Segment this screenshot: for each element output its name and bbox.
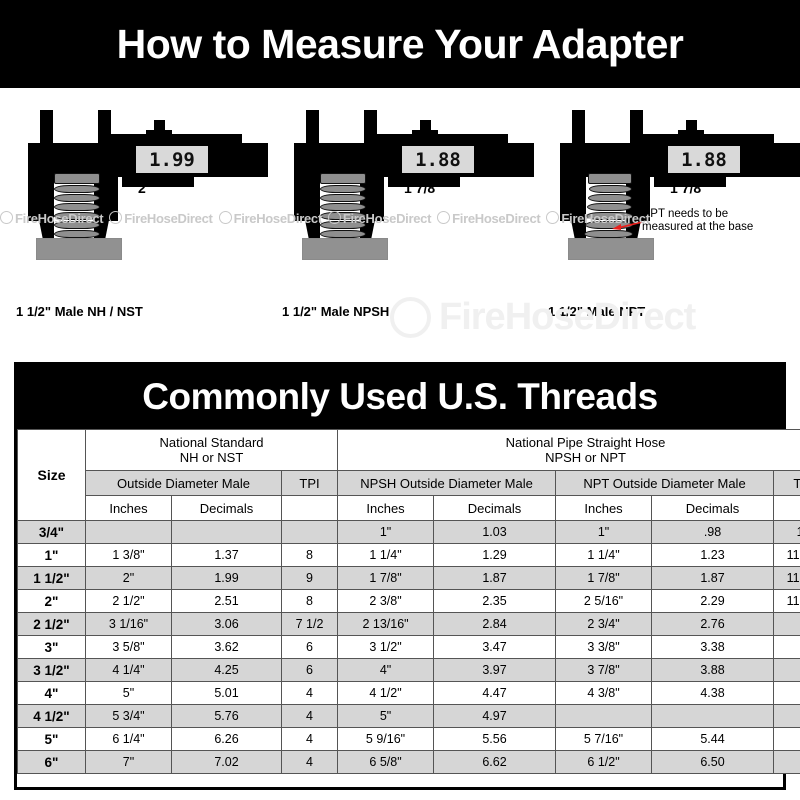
cell-size: 2" [18, 590, 86, 613]
cell-nh-inches: 5" [86, 682, 172, 705]
table-header-sub-row: Outside Diameter Male TPI NPSH Outside D… [18, 471, 800, 496]
cell-np-tpi: 8 [774, 659, 800, 682]
table-header-group-row: Size National Standard NH or NST Nationa… [18, 430, 800, 471]
cell-nh-decimals: 1.37 [172, 544, 282, 567]
caliper-reading-value: 1.88 [681, 149, 727, 171]
thread-turn-icon [584, 230, 633, 238]
cell-np-tpi: 8 [774, 728, 800, 751]
cell-npt-decimals: 5.44 [652, 728, 774, 751]
caliper-lcd-display: 1.88 [666, 144, 742, 175]
cell-npt-inches: 3 3/8" [556, 636, 652, 659]
cell-nh-tpi: 9 [282, 567, 338, 590]
cell-npt-decimals: 4.38 [652, 682, 774, 705]
column-header-npsh-inches: Inches [338, 496, 434, 521]
cell-size: 3" [18, 636, 86, 659]
cell-nh-decimals: 2.51 [172, 590, 282, 613]
column-header-npsh-decimals: Decimals [434, 496, 556, 521]
caliper-diagrams-section: 1.99 2" 1 1/2" Male NH / NST [0, 88, 800, 356]
cell-nh-tpi: 4 [282, 751, 338, 774]
cell-npsh-inches: 1" [338, 521, 434, 544]
column-header-np-tpi: TPI [774, 471, 800, 496]
group-nh-line2: NH or NST [86, 450, 337, 465]
thread-turn-icon [54, 221, 100, 229]
cell-np-tpi: 8 [774, 636, 800, 659]
diagram-npt: 1.88 1 7/8" NPT needs to be measured at … [534, 88, 800, 356]
table-row: 3"3 5/8"3.6263 1/2"3.473 3/8"3.388 [18, 636, 800, 659]
diagram-nh-nst: 1.99 2" 1 1/2" Male NH / NST [2, 88, 268, 356]
cell-np-tpi: 8 [774, 705, 800, 728]
cell-npt-decimals: 6.50 [652, 751, 774, 774]
column-header-np-tpi-blank [774, 496, 800, 521]
npt-annotation: NPT needs to be measured at the base [642, 208, 753, 234]
table-row: 2 1/2"3 1/16"3.067 1/22 13/16"2.842 3/4"… [18, 613, 800, 636]
column-header-npsh-od-male: NPSH Outside Diameter Male [338, 471, 556, 496]
cell-size: 6" [18, 751, 86, 774]
cell-nh-tpi: 6 [282, 659, 338, 682]
cell-nh-decimals: 1.99 [172, 567, 282, 590]
cell-npt-decimals: 3.88 [652, 659, 774, 682]
cell-nh-inches: 2" [86, 567, 172, 590]
cell-npsh-decimals: 1.03 [434, 521, 556, 544]
cell-nh-decimals: 4.25 [172, 659, 282, 682]
threads-table-panel: Commonly Used U.S. Threads Size National… [14, 362, 786, 790]
cell-npt-inches: 2 5/16" [556, 590, 652, 613]
cell-np-tpi: 11 1/2 [774, 590, 800, 613]
cell-size: 4 1/2" [18, 705, 86, 728]
cell-npsh-decimals: 5.56 [434, 728, 556, 751]
thread-crest-icon [320, 173, 366, 184]
cell-nh-inches: 5 3/4" [86, 705, 172, 728]
column-header-nh-decimals: Decimals [172, 496, 282, 521]
caliper-illustration: 1.88 1 7/8" [268, 110, 534, 300]
cell-npt-decimals: 2.76 [652, 613, 774, 636]
cell-np-tpi: 14 [774, 521, 800, 544]
table-row: 6"7"7.0246 5/8"6.626 1/2"6.508 [18, 751, 800, 774]
cell-npsh-decimals: 2.84 [434, 613, 556, 636]
cell-nh-tpi: 4 [282, 705, 338, 728]
thread-turn-icon [320, 185, 366, 193]
fitting-base-plate-icon [302, 238, 388, 260]
caliper-fixed-jaw-tip-icon [568, 205, 586, 241]
cell-npt-decimals: 2.29 [652, 590, 774, 613]
caliper-illustration: 1.88 1 7/8" NPT needs to be measured at … [534, 110, 800, 300]
cell-nh-inches: 2 1/2" [86, 590, 172, 613]
fitting-base-plate-icon [568, 238, 654, 260]
diagram-caption: 1 1/2" Male NPSH [282, 304, 389, 319]
thread-turn-icon [54, 194, 100, 202]
cell-nh-inches [86, 521, 172, 544]
threaded-fitting-tapered-icon [588, 173, 632, 241]
cell-npt-inches: 1 7/8" [556, 567, 652, 590]
npt-annotation-line2: measured at the base [642, 221, 753, 234]
cell-npt-inches [556, 705, 652, 728]
threads-table-body: 3/4"1"1.031".98141"1 3/8"1.3781 1/4"1.29… [18, 521, 800, 774]
cell-npsh-inches: 4 1/2" [338, 682, 434, 705]
thread-turn-icon [54, 212, 100, 220]
cell-npt-inches: 1 1/4" [556, 544, 652, 567]
measurement-label: 2" [138, 180, 152, 196]
cell-size: 3 1/2" [18, 659, 86, 682]
cell-nh-tpi: 4 [282, 728, 338, 751]
thread-turn-icon [589, 185, 632, 193]
thread-turn-icon [320, 230, 366, 238]
cell-size: 1 1/2" [18, 567, 86, 590]
thread-turn-icon [588, 194, 632, 202]
cell-npsh-inches: 1 1/4" [338, 544, 434, 567]
caliper-reading-value: 1.99 [149, 149, 195, 171]
table-row: 5"6 1/4"6.2645 9/16"5.565 7/16"5.448 [18, 728, 800, 751]
table-row: 4 1/2"5 3/4"5.7645"4.978 [18, 705, 800, 728]
cell-npsh-inches: 5 9/16" [338, 728, 434, 751]
caliper-fixed-jaw-tip-icon [36, 205, 54, 241]
cell-np-tpi: 8 [774, 613, 800, 636]
group-nh-line1: National Standard [86, 435, 337, 450]
column-header-nh-tpi-blank [282, 496, 338, 521]
cell-npsh-inches: 2 3/8" [338, 590, 434, 613]
cell-npsh-decimals: 3.97 [434, 659, 556, 682]
table-row: 4"5"5.0144 1/2"4.474 3/8"4.388 [18, 682, 800, 705]
thread-turn-icon [586, 212, 633, 220]
thread-turn-icon [320, 212, 366, 220]
table-row: 1 1/2"2"1.9991 7/8"1.871 7/8"1.8711 1/2 [18, 567, 800, 590]
cell-npt-inches: 2 3/4" [556, 613, 652, 636]
cell-np-tpi: 11 1/2 [774, 544, 800, 567]
cell-nh-tpi: 8 [282, 590, 338, 613]
cell-nh-inches: 7" [86, 751, 172, 774]
column-header-size: Size [18, 430, 86, 521]
cell-npsh-inches: 1 7/8" [338, 567, 434, 590]
cell-nh-inches: 3 5/8" [86, 636, 172, 659]
page-title: How to Measure Your Adapter [0, 0, 800, 88]
cell-np-tpi: 8 [774, 682, 800, 705]
cell-nh-tpi: 7 1/2 [282, 613, 338, 636]
table-row: 2"2 1/2"2.5182 3/8"2.352 5/16"2.2911 1/2 [18, 590, 800, 613]
cell-nh-inches: 4 1/4" [86, 659, 172, 682]
cell-npt-decimals: 1.23 [652, 544, 774, 567]
cell-npsh-inches: 3 1/2" [338, 636, 434, 659]
thread-turn-icon [54, 203, 100, 211]
diagram-caption: 1 1/2" Male NPT [548, 304, 645, 319]
cell-npsh-decimals: 4.47 [434, 682, 556, 705]
cell-npt-inches: 3 7/8" [556, 659, 652, 682]
measurement-label: 1 7/8" [404, 180, 442, 196]
cell-nh-decimals: 3.62 [172, 636, 282, 659]
cell-npsh-decimals: 1.29 [434, 544, 556, 567]
thread-turn-icon [587, 203, 632, 211]
column-header-npt-decimals: Decimals [652, 496, 774, 521]
cell-nh-decimals: 6.26 [172, 728, 282, 751]
caliper-lcd-display: 1.99 [134, 144, 210, 175]
cell-nh-tpi: 6 [282, 636, 338, 659]
thread-turn-icon [54, 230, 100, 238]
cell-nh-decimals: 3.06 [172, 613, 282, 636]
cell-npt-inches: 1" [556, 521, 652, 544]
cell-npsh-decimals: 4.97 [434, 705, 556, 728]
cell-npt-inches: 6 1/2" [556, 751, 652, 774]
cell-nh-inches: 6 1/4" [86, 728, 172, 751]
cell-size: 2 1/2" [18, 613, 86, 636]
cell-nh-tpi: 8 [282, 544, 338, 567]
thread-turn-icon [320, 221, 366, 229]
fitting-base-plate-icon [36, 238, 122, 260]
cell-npsh-inches: 2 13/16" [338, 613, 434, 636]
cell-npsh-decimals: 1.87 [434, 567, 556, 590]
column-group-national-pipe-straight-hose: National Pipe Straight Hose NPSH or NPT [338, 430, 800, 471]
thread-turn-icon [54, 185, 100, 193]
page-header-banner: How to Measure Your Adapter [0, 0, 800, 88]
threaded-fitting-icon [54, 173, 100, 241]
cell-nh-tpi [282, 521, 338, 544]
table-title: Commonly Used U.S. Threads [17, 365, 783, 429]
cell-npt-inches: 4 3/8" [556, 682, 652, 705]
cell-size: 5" [18, 728, 86, 751]
cell-nh-tpi: 4 [282, 682, 338, 705]
table-row: 3/4"1"1.031".9814 [18, 521, 800, 544]
measurement-label: 1 7/8" [670, 180, 708, 196]
column-header-npt-inches: Inches [556, 496, 652, 521]
cell-npsh-decimals: 3.47 [434, 636, 556, 659]
thread-crest-icon [54, 173, 100, 184]
cell-nh-decimals [172, 521, 282, 544]
thread-crest-icon [588, 173, 632, 184]
group-np-line2: NPSH or NPT [338, 450, 800, 465]
cell-nh-inches: 3 1/16" [86, 613, 172, 636]
npt-annotation-line1: NPT needs to be [642, 208, 753, 221]
column-header-nh-od-male: Outside Diameter Male [86, 471, 282, 496]
cell-npsh-decimals: 2.35 [434, 590, 556, 613]
cell-np-tpi: 11 1/2 [774, 567, 800, 590]
cell-npt-inches: 5 7/16" [556, 728, 652, 751]
table-row: 3 1/2"4 1/4"4.2564"3.973 7/8"3.888 [18, 659, 800, 682]
column-header-nh-inches: Inches [86, 496, 172, 521]
cell-npsh-inches: 6 5/8" [338, 751, 434, 774]
thread-turn-icon [320, 203, 366, 211]
diagram-caption: 1 1/2" Male NH / NST [16, 304, 143, 319]
group-np-line1: National Pipe Straight Hose [338, 435, 800, 450]
annotation-arrow-icon [612, 220, 642, 230]
cell-npsh-decimals: 6.62 [434, 751, 556, 774]
cell-nh-decimals: 5.01 [172, 682, 282, 705]
cell-npt-decimals: .98 [652, 521, 774, 544]
cell-size: 1" [18, 544, 86, 567]
thread-turn-icon [320, 194, 366, 202]
caliper-lcd-display: 1.88 [400, 144, 476, 175]
threaded-fitting-icon [320, 173, 366, 241]
column-header-npt-od-male: NPT Outside Diameter Male [556, 471, 774, 496]
cell-npsh-inches: 4" [338, 659, 434, 682]
cell-size: 4" [18, 682, 86, 705]
cell-npsh-inches: 5" [338, 705, 434, 728]
threads-table: Size National Standard NH or NST Nationa… [17, 429, 800, 774]
cell-npt-decimals: 3.38 [652, 636, 774, 659]
diagram-npsh: 1.88 1 7/8" 1 1/2" Male NPSH [268, 88, 534, 356]
cell-npt-decimals [652, 705, 774, 728]
column-header-nh-tpi: TPI [282, 471, 338, 496]
cell-npt-decimals: 1.87 [652, 567, 774, 590]
caliper-reading-value: 1.88 [415, 149, 461, 171]
column-group-national-standard: National Standard NH or NST [86, 430, 338, 471]
table-row: 1"1 3/8"1.3781 1/4"1.291 1/4"1.2311 1/2 [18, 544, 800, 567]
cell-nh-decimals: 7.02 [172, 751, 282, 774]
cell-nh-inches: 1 3/8" [86, 544, 172, 567]
caliper-fixed-jaw-tip-icon [302, 205, 320, 241]
cell-np-tpi: 8 [774, 751, 800, 774]
cell-size: 3/4" [18, 521, 86, 544]
table-header-unit-row: Inches Decimals Inches Decimals Inches D… [18, 496, 800, 521]
cell-nh-decimals: 5.76 [172, 705, 282, 728]
caliper-illustration: 1.99 2" [2, 110, 268, 300]
